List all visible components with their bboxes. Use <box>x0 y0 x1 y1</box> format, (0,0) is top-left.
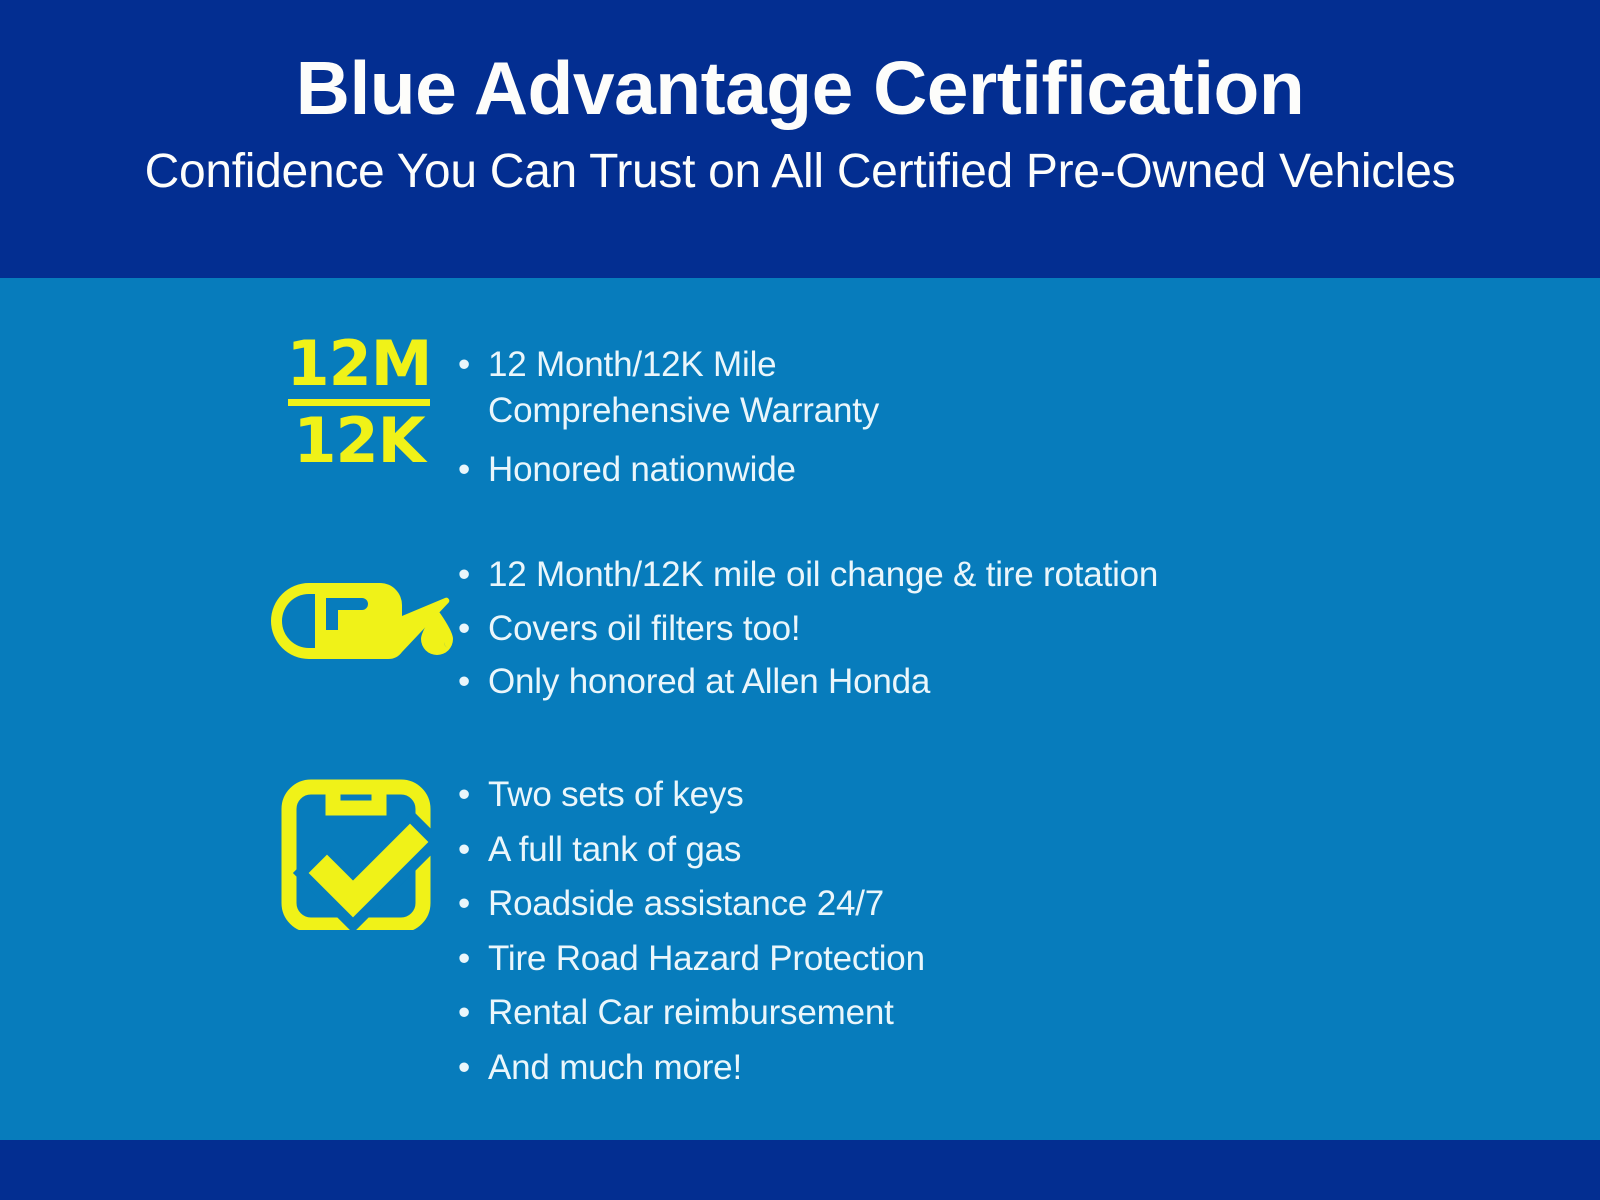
list-item: • Tire Road Hazard Protection <box>458 936 925 982</box>
feature-bullet-list: • 12 Month/12K mile oil change & tire ro… <box>458 550 1158 713</box>
bullet-marker-icon: • <box>458 827 488 873</box>
poster-header: Blue Advantage Certification Confidence … <box>0 0 1600 278</box>
list-item-label: Roadside assistance 24/7 <box>488 881 884 927</box>
poster-footer-bar <box>0 1140 1600 1200</box>
bullet-marker-icon: • <box>458 990 488 1036</box>
bullet-marker-icon: • <box>458 772 488 818</box>
blue-advantage-poster: Blue Advantage Certification Confidence … <box>0 0 1600 1200</box>
list-item-label: 12 Month/12K Mile Comprehensive Warranty <box>488 342 879 433</box>
twelve-month-twelve-k-fraction-icon: 12M 12K <box>284 332 434 473</box>
list-item-label: Honored nationwide <box>488 447 796 493</box>
list-item: • 12 Month/12K mile oil change & tire ro… <box>458 552 1158 598</box>
feature-bullet-list: • 12 Month/12K Mile Comprehensive Warran… <box>458 340 879 507</box>
bullet-marker-icon: • <box>458 659 488 705</box>
list-item-label: Covers oil filters too! <box>488 606 800 652</box>
list-item: • Covers oil filters too! <box>458 606 1158 652</box>
list-item: • 12 Month/12K Mile Comprehensive Warran… <box>458 342 879 433</box>
feature-icon-cell: 12M 12K <box>262 340 458 473</box>
oil-can-icon <box>268 560 454 671</box>
list-item-label: Tire Road Hazard Protection <box>488 936 925 982</box>
page-title: Blue Advantage Certification <box>296 48 1304 129</box>
bullet-marker-icon: • <box>458 881 488 927</box>
feature-row-warranty: 12M 12K • 12 Month/12K Mile Comprehensiv… <box>262 340 879 507</box>
list-item: • Rental Car reimbursement <box>458 990 925 1036</box>
list-item-label: A full tank of gas <box>488 827 741 873</box>
list-item-label: Only honored at Allen Honda <box>488 659 930 705</box>
fraction-denominator-label: 12K <box>293 409 424 473</box>
bullet-marker-icon: • <box>458 1045 488 1091</box>
list-item-label: 12 Month/12K mile oil change & tire rota… <box>488 552 1158 598</box>
page-subtitle: Confidence You Can Trust on All Certifie… <box>145 145 1456 199</box>
bullet-marker-icon: • <box>458 552 488 598</box>
features-section: 12M 12K • 12 Month/12K Mile Comprehensiv… <box>0 278 1600 1140</box>
feature-row-extras: • Two sets of keys • A full tank of gas … <box>262 770 925 1099</box>
list-item-label: And much more! <box>488 1045 742 1091</box>
list-item: • Honored nationwide <box>458 447 879 493</box>
bullet-marker-icon: • <box>458 342 488 433</box>
feature-bullet-list: • Two sets of keys • A full tank of gas … <box>458 770 925 1099</box>
bullet-marker-icon: • <box>458 936 488 982</box>
list-item: • Only honored at Allen Honda <box>458 659 1158 705</box>
clipboard-check-icon <box>280 778 432 935</box>
list-item: • Roadside assistance 24/7 <box>458 881 925 927</box>
list-item: • A full tank of gas <box>458 827 925 873</box>
feature-icon-cell <box>262 770 458 935</box>
feature-row-oil-change: • 12 Month/12K mile oil change & tire ro… <box>262 550 1158 713</box>
list-item: • Two sets of keys <box>458 772 925 818</box>
feature-icon-cell <box>262 550 458 671</box>
bullet-marker-icon: • <box>458 447 488 493</box>
bullet-marker-icon: • <box>458 606 488 652</box>
list-item: • And much more! <box>458 1045 925 1091</box>
list-item-label: Rental Car reimbursement <box>488 990 894 1036</box>
fraction-numerator-label: 12M <box>287 332 432 396</box>
list-item-label: Two sets of keys <box>488 772 744 818</box>
